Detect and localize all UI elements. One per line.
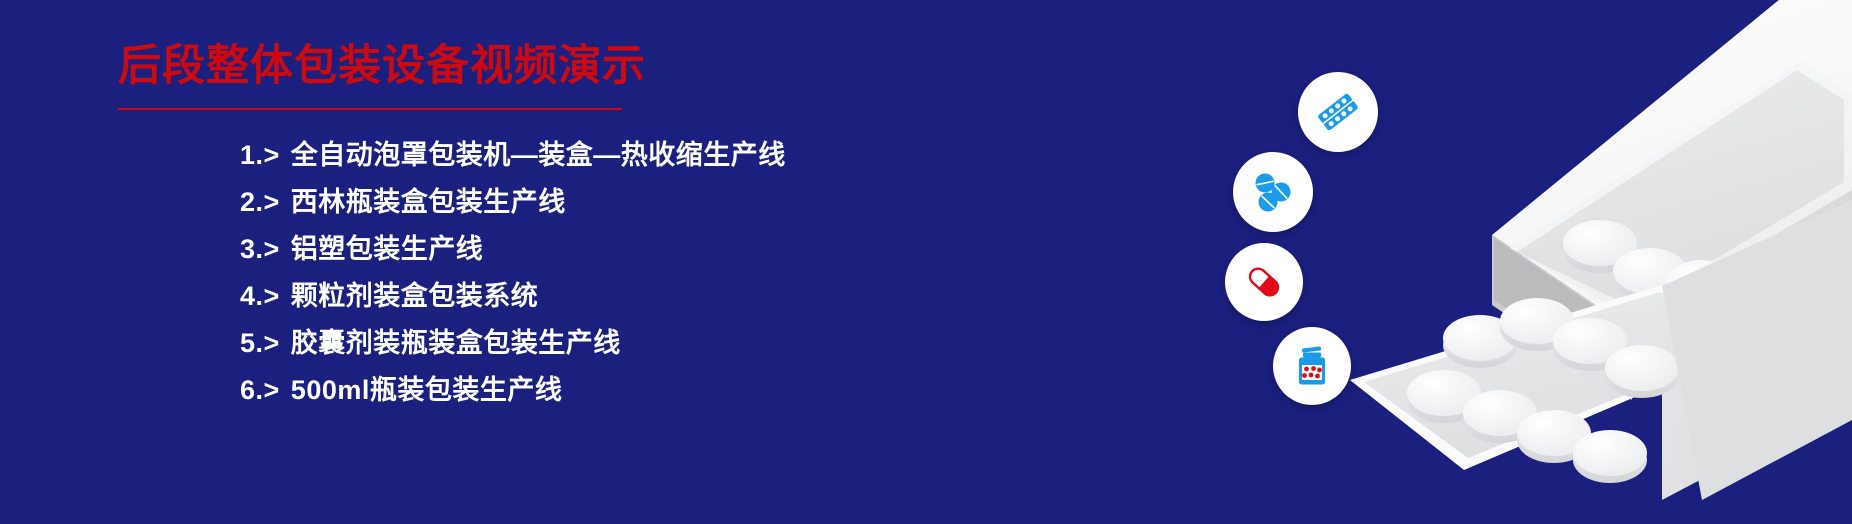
list-item-label: 西林瓶装盒包装生产线 — [291, 179, 566, 226]
list-item-marker: 5.> — [240, 320, 280, 367]
list-item-label: 全自动泡罩包装机—装盒—热收缩生产线 — [291, 132, 786, 179]
list-item-marker: 1.> — [240, 132, 280, 179]
promo-banner: 后段整体包装设备视频演示 1.> 全自动泡罩包装机—装盒—热收缩生产线 2.> … — [0, 0, 1852, 524]
text-content-block: 后段整体包装设备视频演示 1.> 全自动泡罩包装机—装盒—热收缩生产线 2.> … — [0, 0, 1050, 524]
list-item-label: 胶囊剂装瓶装盒包装生产线 — [291, 320, 621, 367]
tablets-icon — [1248, 167, 1298, 217]
list-item-marker: 2.> — [240, 179, 280, 226]
list-item[interactable]: 3.> 铝塑包装生产线 — [240, 226, 1020, 273]
list-item-marker: 3.> — [240, 226, 280, 273]
capsule-icon — [1239, 257, 1289, 307]
feature-list: 1.> 全自动泡罩包装机—装盒—热收缩生产线 2.> 西林瓶装盒包装生产线 3.… — [240, 132, 1020, 414]
list-item-marker: 4.> — [240, 273, 280, 320]
list-item[interactable]: 2.> 西林瓶装盒包装生产线 — [240, 179, 1020, 226]
title-underline-divider — [118, 108, 622, 110]
list-item-marker: 6.> — [240, 367, 280, 414]
list-item[interactable]: 1.> 全自动泡罩包装机—装盒—热收缩生产线 — [240, 132, 1020, 179]
tablets-icon-badge — [1233, 152, 1313, 232]
list-item-label: 500ml瓶装包装生产线 — [291, 367, 563, 414]
page-title: 后段整体包装设备视频演示 — [118, 42, 646, 91]
list-item[interactable]: 5.> 胶囊剂装瓶装盒包装生产线 — [240, 320, 1020, 367]
carton-blister-artwork — [1332, 0, 1852, 524]
pharma-carton-illustration — [1332, 0, 1852, 524]
list-item[interactable]: 4.> 颗粒剂装盒包装系统 — [240, 273, 1020, 320]
list-item[interactable]: 6.> 500ml瓶装包装生产线 — [240, 367, 1020, 414]
list-item-label: 铝塑包装生产线 — [291, 226, 484, 273]
pill-bottle-icon — [1288, 342, 1336, 390]
capsule-icon-badge — [1225, 243, 1303, 321]
list-item-label: 颗粒剂装盒包装系统 — [291, 273, 539, 320]
